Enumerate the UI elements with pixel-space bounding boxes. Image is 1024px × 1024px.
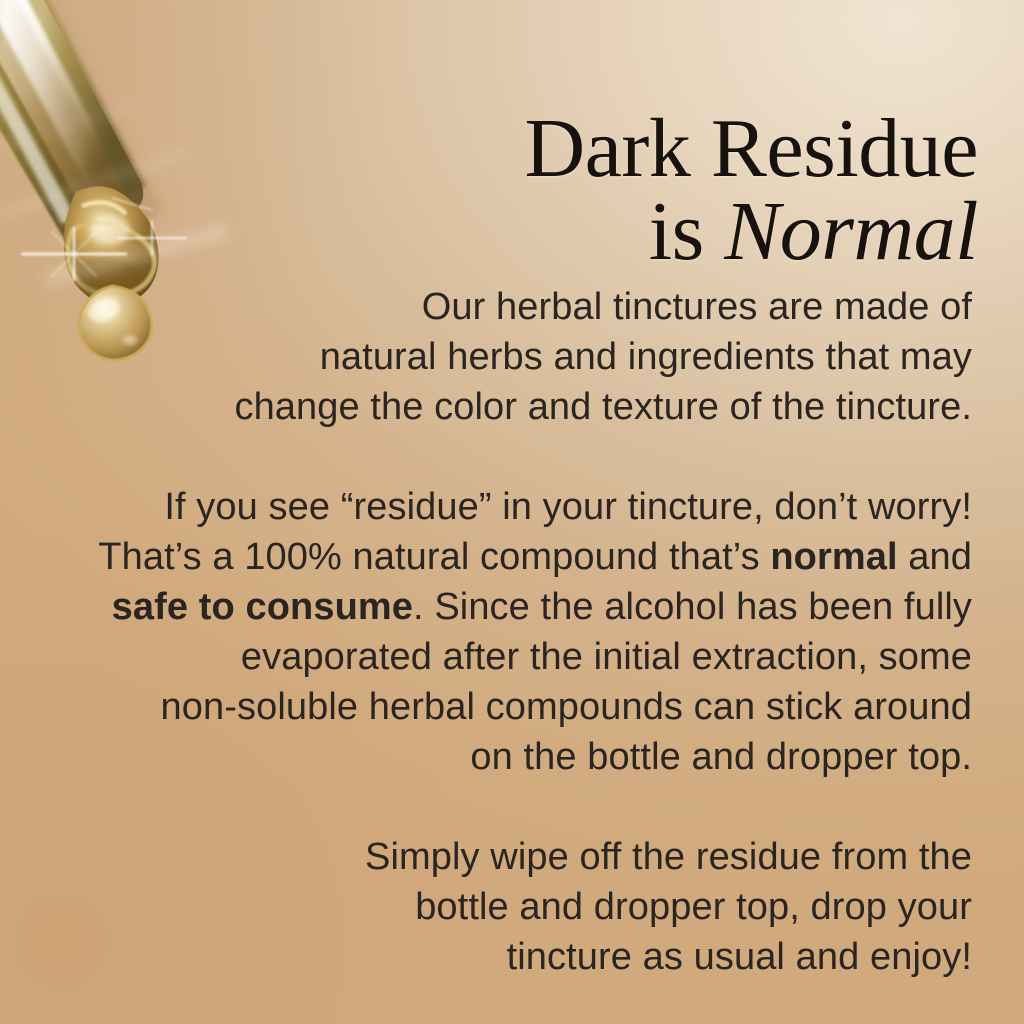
paragraph-1-line-2: natural herbs and ingredients that may bbox=[28, 332, 972, 382]
sparkle-highlights bbox=[22, 198, 186, 280]
paragraph-2-line-6: on the bottle and dropper top. bbox=[28, 732, 972, 782]
paragraph-2: If you see “residue” in your tincture, d… bbox=[28, 482, 972, 782]
paragraph-3-line-1: Simply wipe off the residue from the bbox=[28, 832, 972, 882]
emphasis-normal: normal bbox=[770, 536, 897, 578]
paragraph-1-line-3: change the color and texture of the tinc… bbox=[28, 382, 972, 432]
headline-line-2: is Normal bbox=[298, 191, 978, 273]
paragraph-2-line-1: If you see “residue” in your tincture, d… bbox=[28, 482, 972, 532]
paragraph-2-line-3-text-a: . Since the alcohol has been fully bbox=[413, 586, 972, 628]
paragraph-2-line-5: non-soluble herbal compounds can stick a… bbox=[28, 682, 972, 732]
emphasis-safe-to-consume: safe to consume bbox=[112, 586, 413, 628]
paragraph-2-line-4: evaporated after the initial extraction,… bbox=[28, 632, 972, 682]
graphic-canvas: Dark Residue is Normal Our herbal tinctu… bbox=[0, 0, 1024, 1024]
paragraph-1: Our herbal tinctures are made of natural… bbox=[28, 282, 972, 432]
headline: Dark Residue is Normal bbox=[298, 108, 978, 273]
paragraph-1-line-1: Our herbal tinctures are made of bbox=[28, 282, 972, 332]
headline-emphasis-normal: Normal bbox=[724, 185, 978, 278]
paragraph-2-line-2-text-a: That’s a 100% natural compound that’s bbox=[98, 536, 770, 578]
paragraph-3-line-2: bottle and dropper top, drop your bbox=[28, 882, 972, 932]
dropper-shadow bbox=[0, 0, 162, 248]
body-copy: Our herbal tinctures are made of natural… bbox=[28, 282, 972, 982]
lens-flare-streaks bbox=[0, 102, 228, 286]
headline-line-1: Dark Residue bbox=[298, 108, 978, 190]
paragraph-3: Simply wipe off the residue from the bot… bbox=[28, 832, 972, 982]
dropper-glass-shaft bbox=[0, 0, 146, 242]
paragraph-2-line-2-text-b: and bbox=[898, 536, 972, 578]
paragraph-3-line-3: tincture as usual and enjoy! bbox=[28, 932, 972, 982]
headline-line-2-prefix: is bbox=[649, 185, 725, 278]
paragraph-2-line-3: safe to consume. Since the alcohol has b… bbox=[28, 582, 972, 632]
paragraph-2-line-2: That’s a 100% natural compound that’s no… bbox=[28, 532, 972, 582]
